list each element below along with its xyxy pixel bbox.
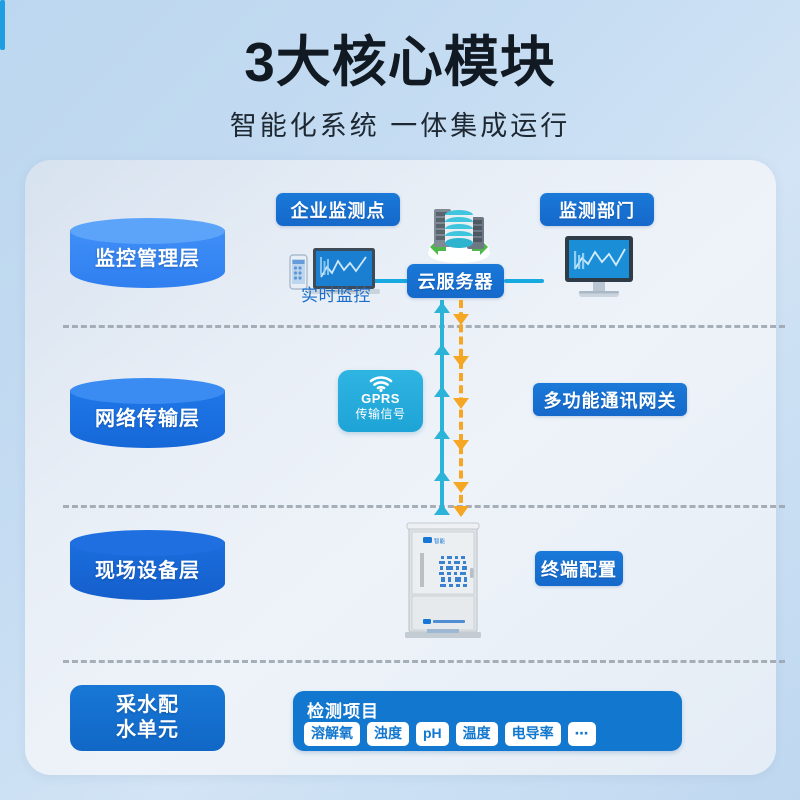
downlink-arrow-icon	[453, 314, 469, 325]
gprs-signal-box[interactable]: GPRS 传输信号	[338, 370, 423, 432]
uplink-arrow-channel	[433, 300, 451, 515]
layer-field-device[interactable]: 现场设备层	[70, 530, 225, 610]
downlink-arrow-channel	[452, 300, 470, 515]
layer-label-line1: 采水配	[116, 693, 179, 718]
detection-chip-more[interactable]: ⋯	[568, 722, 596, 746]
detection-items-panel: 检测项目 溶解氧 浊度 pH 温度 电导率 ⋯	[293, 691, 682, 751]
divider-layer-3	[63, 660, 785, 663]
detection-panel-title: 检测项目	[307, 697, 379, 722]
detection-chip[interactable]: 浊度	[367, 722, 409, 746]
uplink-line	[440, 300, 444, 515]
gprs-line1: GPRS	[338, 392, 423, 407]
cloud-server-rack-icon	[420, 197, 498, 267]
cylinder-top	[70, 218, 225, 244]
badge-terminal-configuration[interactable]: 终端配置	[535, 551, 623, 586]
uplink-arrow-icon	[434, 504, 450, 515]
detection-chip[interactable]: 溶解氧	[304, 722, 360, 746]
equipment-cabinet-icon: 智能	[403, 520, 483, 642]
badge-monitoring-department[interactable]: 监测部门	[540, 193, 654, 226]
detection-chip[interactable]: pH	[416, 722, 449, 746]
svg-text:智能: 智能	[434, 537, 446, 545]
page-subtitle: 智能化系统 一体集成运行	[0, 104, 800, 143]
divider-layer-2	[63, 505, 785, 508]
downlink-arrow-icon	[453, 440, 469, 451]
wifi-signal-icon	[338, 376, 423, 392]
layer-label: 监控管理层	[70, 242, 225, 271]
connector-cloud-to-monitor	[504, 279, 544, 283]
uplink-arrow-icon	[434, 386, 450, 397]
uplink-arrow-icon	[434, 302, 450, 313]
poster-stage: 3大核心模块 智能化系统 一体集成运行 监控管理层 网络传输层 现场设备层 采水…	[0, 0, 800, 800]
layer-water-unit[interactable]: 采水配 水单元	[70, 685, 225, 751]
layer-label-line2: 水单元	[116, 718, 179, 743]
page-title: 3大核心模块	[0, 34, 800, 92]
layer-network-transmission[interactable]: 网络传输层	[70, 378, 225, 458]
detection-chip[interactable]: 电导率	[505, 722, 561, 746]
downlink-arrow-icon	[453, 398, 469, 409]
downlink-arrow-icon	[453, 482, 469, 493]
cylinder-top	[70, 530, 225, 556]
downlink-arrow-icon	[453, 356, 469, 367]
layer-monitor-management[interactable]: 监控管理层	[70, 218, 225, 298]
divider-layer-1	[63, 325, 785, 328]
uplink-arrow-icon	[434, 470, 450, 481]
uplink-arrow-icon	[434, 344, 450, 355]
layer-label: 网络传输层	[70, 402, 225, 431]
badge-multifunction-gateway[interactable]: 多功能通讯网关	[533, 383, 687, 416]
desktop-monitor-icon	[563, 234, 635, 300]
badge-enterprise-monitoring-point[interactable]: 企业监测点	[276, 193, 400, 226]
uplink-arrow-icon	[434, 428, 450, 439]
realtime-monitoring-label: 实时监控	[276, 281, 396, 306]
detection-chip-list: 溶解氧 浊度 pH 温度 电导率 ⋯	[304, 722, 596, 746]
downlink-arrow-icon	[453, 506, 469, 517]
badge-cloud-server[interactable]: 云服务器	[407, 264, 504, 298]
layer-label: 现场设备层	[70, 554, 225, 583]
cylinder-top	[70, 378, 225, 404]
detection-chip[interactable]: 温度	[456, 722, 498, 746]
gprs-line2: 传输信号	[338, 407, 423, 421]
